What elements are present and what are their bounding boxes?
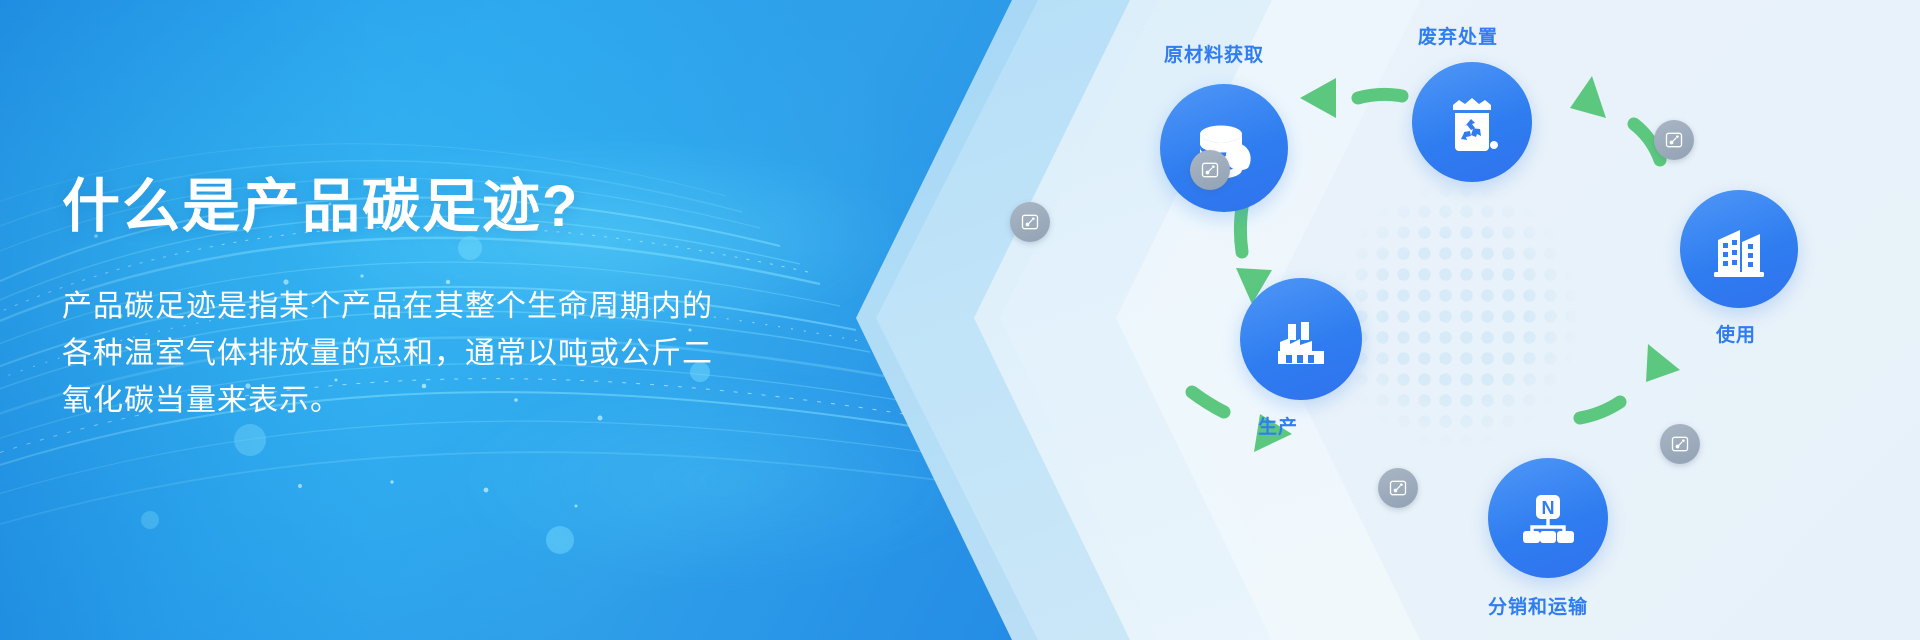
node-label-production: 生产: [1258, 412, 1298, 439]
image-placeholder-icon[interactable]: [1654, 120, 1694, 160]
image-placeholder-icon[interactable]: [1660, 424, 1700, 464]
distribution-node-icon[interactable]: N: [1488, 458, 1608, 578]
factory-icon[interactable]: [1240, 278, 1362, 400]
arrow-use-to-waste: [1570, 76, 1660, 160]
image-placeholder-icon[interactable]: [1378, 468, 1418, 508]
svg-text:N: N: [1542, 498, 1555, 518]
hero-copy: 什么是产品碳足迹? 产品碳足迹是指某个产品在其整个生命周期内的 各种温室气体排放…: [62, 176, 962, 425]
page-title: 什么是产品碳足迹?: [62, 176, 962, 239]
description-line-3: 氧化碳当量来表示。: [62, 377, 962, 424]
description-line-1: 产品碳足迹是指某个产品在其整个生命周期内的: [62, 283, 962, 330]
buildings-icon[interactable]: [1680, 190, 1798, 308]
node-label-use: 使用: [1716, 320, 1756, 347]
image-placeholder-icon[interactable]: [1010, 202, 1050, 242]
arrow-distribution-to-use: [1580, 344, 1680, 418]
node-label-raw-material: 原材料获取: [1164, 40, 1264, 67]
image-placeholder-icon[interactable]: [1190, 150, 1230, 190]
arrow-waste-to-raw: [1300, 78, 1402, 118]
trash-recycle-icon[interactable]: [1412, 62, 1532, 182]
hero-description: 产品碳足迹是指某个产品在其整个生命周期内的 各种温室气体排放量的总和，通常以吨或…: [62, 283, 962, 425]
hero-banner: 什么是产品碳足迹? 产品碳足迹是指某个产品在其整个生命周期内的 各种温室气体排放…: [0, 0, 1920, 640]
node-label-waste: 废弃处置: [1418, 22, 1498, 49]
lifecycle-diagram: 原材料获取 废弃处置: [1140, 0, 1920, 640]
node-label-distribution: 分销和运输: [1488, 592, 1588, 619]
description-line-2: 各种温室气体排放量的总和，通常以吨或公斤二: [62, 330, 962, 377]
database-leaf-icon[interactable]: [1160, 84, 1288, 212]
